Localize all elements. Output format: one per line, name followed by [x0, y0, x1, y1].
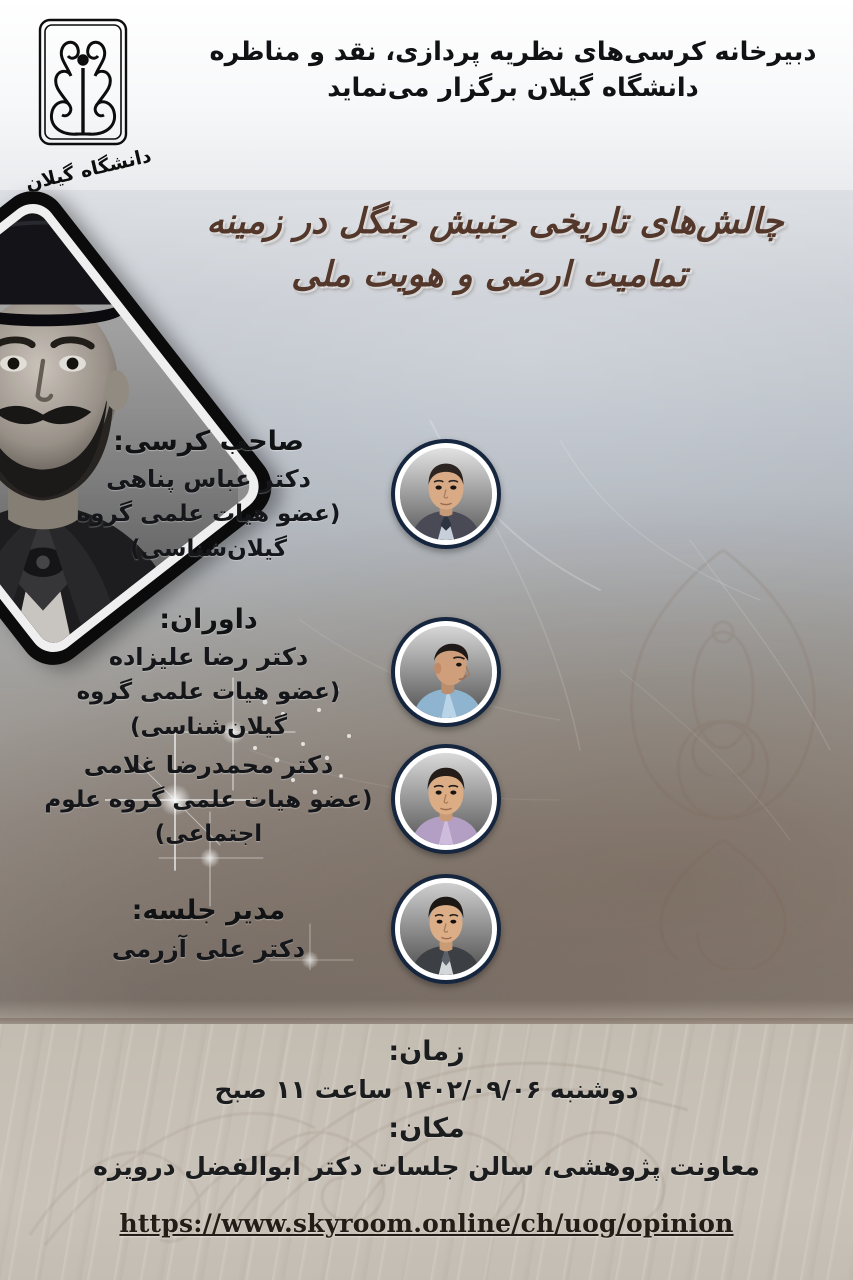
person-text: مدیر جلسه: دکتر علی آزرمی [0, 891, 391, 966]
title-line-2: تمامیت ارضی و هویت ملی [139, 249, 839, 302]
header-line-1: دبیرخانه کرسی‌های نظریه پردازی، نقد و من… [193, 34, 833, 70]
person-row: مدیر جلسه: دکتر علی آزرمی [0, 874, 835, 984]
portrait-ali-azarmi [400, 883, 492, 975]
people-section: صاحب کرسی: دکتر عباس پناهی (عضو هیات علم… [0, 404, 853, 1014]
person-role: داوران: [26, 600, 391, 639]
avatar [391, 617, 501, 727]
time-value: دوشنبه ۱۴۰۲/۰۹/۰۶ ساعت ۱۱ صبح [0, 1071, 853, 1109]
page-title: چالش‌های تاریخی جنبش جنگل در زمینه تمامی… [139, 196, 839, 301]
person-affiliation: (عضو هیات علمی گروه گیلان‌شناسی) [26, 497, 391, 566]
avatar-ring [395, 443, 497, 545]
person-role: صاحب کرسی: [26, 422, 391, 461]
portrait-mohammadreza-gholami [400, 753, 492, 845]
portrait-illustration [400, 753, 492, 845]
person-text: دکتر محمدرضا غلامی (عضو هیات علمی گروه ع… [0, 747, 391, 852]
portrait-illustration [400, 448, 492, 540]
avatar-ring [395, 878, 497, 980]
portrait-illustration [400, 883, 492, 975]
portrait-illustration [400, 626, 492, 718]
person-row: داوران: دکتر رضا علیزاده (عضو هیات علمی … [0, 600, 835, 744]
avatar [391, 439, 501, 549]
gilan-university-emblem-icon: دانشگاه گیلان [18, 16, 158, 191]
title-line-1: چالش‌های تاریخی جنبش جنگل در زمینه [139, 196, 839, 249]
place-value: معاونت پژوهشی، سالن جلسات دکتر ابوالفضل … [0, 1148, 853, 1186]
person-row: دکتر محمدرضا غلامی (عضو هیات علمی گروه ع… [0, 744, 835, 854]
person-affiliation: (عضو هیات علمی گروه گیلان‌شناسی) [26, 675, 391, 744]
person-name: دکتر رضا علیزاده [26, 639, 391, 675]
university-logo: دانشگاه گیلان [18, 16, 158, 191]
person-name: دکتر محمدرضا غلامی [26, 747, 391, 783]
header-organizer: دبیرخانه کرسی‌های نظریه پردازی، نقد و من… [193, 34, 833, 106]
avatar-ring [395, 748, 497, 850]
person-text: داوران: دکتر رضا علیزاده (عضو هیات علمی … [0, 600, 391, 744]
person-role: مدیر جلسه: [26, 891, 391, 930]
event-details: زمان: دوشنبه ۱۴۰۲/۰۹/۰۶ ساعت ۱۱ صبح مکان… [0, 1032, 853, 1238]
event-poster: دانشگاه گیلان دبیرخانه کرسی‌های نظریه پر… [0, 0, 853, 1280]
header-line-2: دانشگاه گیلان برگزار می‌نماید [193, 70, 833, 106]
meeting-link[interactable]: https://www.skyroom.online/ch/uog/opinio… [0, 1209, 853, 1238]
person-name: دکتر عباس پناهی [26, 461, 391, 497]
avatar-ring [395, 621, 497, 723]
person-affiliation: (عضو هیات علمی گروه علوم اجتماعی) [26, 783, 391, 852]
person-text: صاحب کرسی: دکتر عباس پناهی (عضو هیات علم… [0, 422, 391, 566]
avatar [391, 744, 501, 854]
portrait-reza-alizadeh [400, 626, 492, 718]
person-row: صاحب کرسی: دکتر عباس پناهی (عضو هیات علم… [0, 422, 835, 566]
portrait-abbas-panahi [400, 448, 492, 540]
person-name: دکتر علی آزرمی [26, 931, 391, 967]
place-label: مکان: [0, 1109, 853, 1148]
time-label: زمان: [0, 1032, 853, 1071]
logo-caption: دانشگاه گیلان [23, 144, 153, 191]
avatar [391, 874, 501, 984]
